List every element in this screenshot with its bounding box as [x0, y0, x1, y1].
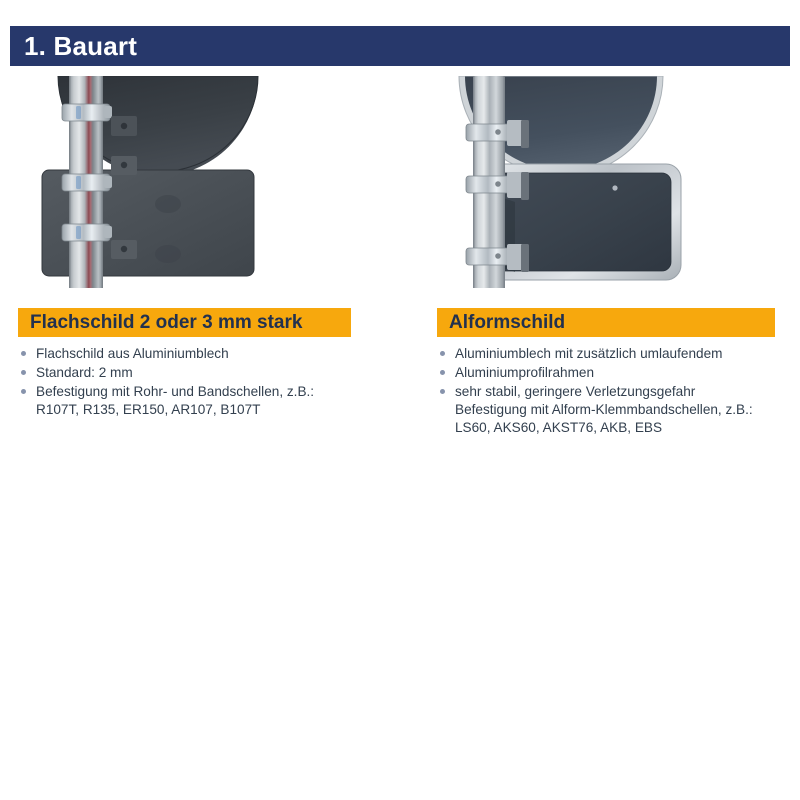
list-item-line: Befestigung mit Rohr- und Bandschellen, …	[36, 384, 314, 399]
bullet-dot-icon	[21, 370, 26, 375]
list-item: Standard: 2 mm	[18, 364, 383, 382]
bullet-dot-icon	[440, 389, 445, 394]
list-item: sehr stabil, geringere Verletzungsgefahr…	[437, 383, 800, 437]
list-item-line: sehr stabil, geringere Verletzungsgefahr	[455, 384, 695, 399]
list-item-line: Flachschild aus Aluminiumblech	[36, 346, 229, 361]
list-item-line: R107T, R135, ER150, AR107, B107T	[36, 401, 383, 419]
bullet-dot-icon	[21, 351, 26, 356]
column-alformschild: Alformschild Aluminiumblech mit zusätzli…	[437, 76, 800, 438]
list-item-line: Standard: 2 mm	[36, 365, 133, 380]
list-item-line: LS60, AKS60, AKST76, AKB, EBS	[455, 419, 800, 437]
photo-flachschild	[18, 76, 383, 288]
list-item: Flachschild aus Aluminiumblech	[18, 345, 383, 363]
section-header-bar: 1. Bauart	[10, 26, 790, 66]
list-item: Aluminiumprofilrahmen	[437, 364, 800, 382]
photo-alformschild	[437, 76, 800, 288]
list-item-line: Aluminiumblech mit zusätzlich umlaufende…	[455, 346, 722, 361]
page-title: 1. Bauart	[10, 33, 137, 59]
bullet-dot-icon	[440, 370, 445, 375]
bullet-dot-icon	[21, 389, 26, 394]
list-item-line: Aluminiumprofilrahmen	[455, 365, 594, 380]
bullet-list-flachschild: Flachschild aus Aluminiumblech Standard:…	[18, 345, 383, 419]
alformschild-illustration	[437, 76, 800, 288]
list-item-line: Befestigung mit Alform-Klemmbandschellen…	[455, 401, 800, 419]
flachschild-illustration	[18, 76, 383, 288]
bullet-dot-icon	[440, 351, 445, 356]
caption-label-flachschild: Flachschild 2 oder 3 mm stark	[18, 313, 302, 332]
caption-label-alformschild: Alformschild	[437, 313, 565, 332]
list-item: Aluminiumblech mit zusätzlich umlaufende…	[437, 345, 800, 363]
caption-bar-flachschild: Flachschild 2 oder 3 mm stark	[18, 308, 351, 337]
bullet-list-alformschild: Aluminiumblech mit zusätzlich umlaufende…	[437, 345, 800, 437]
column-flachschild: Flachschild 2 oder 3 mm stark Flachschil…	[18, 76, 383, 420]
caption-bar-alformschild: Alformschild	[437, 308, 775, 337]
list-item: Befestigung mit Rohr- und Bandschellen, …	[18, 383, 383, 419]
